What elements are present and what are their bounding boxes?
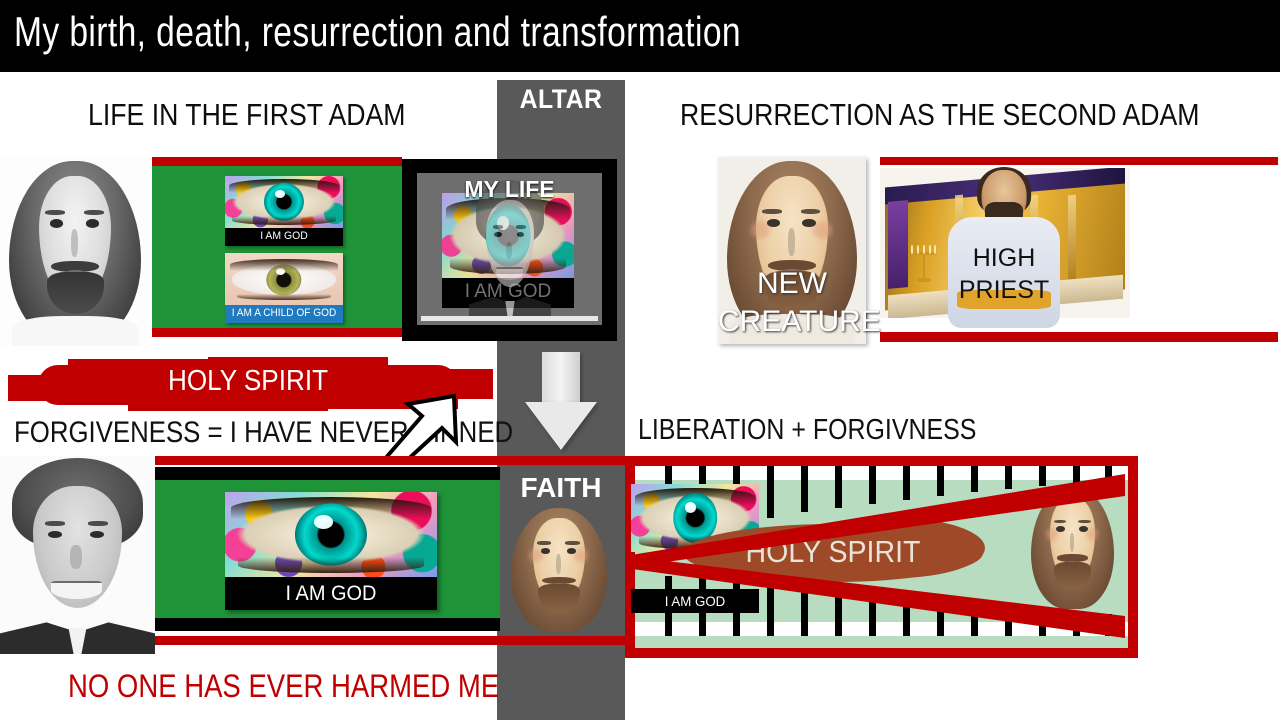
man-photo-grayscale bbox=[0, 456, 155, 654]
page-title: My birth, death, resurrection and transf… bbox=[14, 8, 741, 56]
eye-card-i-am-god: I AM GOD bbox=[225, 176, 343, 246]
high-priest-top-red-bar bbox=[880, 157, 1278, 165]
slide-canvas: My birth, death, resurrection and transf… bbox=[0, 0, 1280, 720]
my-life-panel: I AM GOD MY LIFE bbox=[402, 159, 617, 341]
right-column-header: RESURRECTION AS THE SECOND ADAM bbox=[680, 97, 1199, 133]
bottom-green-top-red-bar bbox=[155, 456, 500, 465]
eye-card-caption: I AM GOD bbox=[228, 230, 340, 242]
title-bar: My birth, death, resurrection and transf… bbox=[0, 0, 1280, 72]
jesus-watercolor-grayscale-top bbox=[0, 157, 150, 346]
green-panel-top-red-bar bbox=[152, 157, 402, 166]
eye-card-caption: I AM A CHILD OF GOD bbox=[230, 307, 339, 319]
faith-top-red-bar bbox=[497, 456, 625, 465]
bottom-eye-caption: I AM GOD bbox=[230, 582, 431, 606]
bent-arrow-up-right-icon bbox=[378, 368, 488, 463]
bottom-green-bottom-black-bar bbox=[155, 618, 500, 631]
red-bowtie-shape bbox=[625, 456, 1138, 658]
mint-panel: I AM GOD HOLY SPIRIT bbox=[625, 456, 1138, 658]
liberation-text: LIBERATION + FORGIVNESS bbox=[638, 414, 976, 447]
faith-label: FAITH bbox=[497, 472, 625, 504]
down-arrow-icon bbox=[497, 352, 625, 452]
new-creature-label-line2: CREATURE bbox=[718, 305, 866, 339]
bottom-eye-card: I AM GOD bbox=[225, 492, 437, 610]
eye-card-child-of-god: I AM A CHILD OF GOD bbox=[225, 253, 343, 323]
faith-bottom-red-bar bbox=[497, 636, 625, 645]
green-panel-bottom-red-bar bbox=[152, 328, 402, 337]
bottom-green-bottom-red-bar bbox=[155, 636, 500, 645]
left-column-header: LIFE IN THE FIRST ADAM bbox=[88, 97, 406, 133]
my-life-title: MY LIFE bbox=[417, 176, 602, 203]
new-creature-label-line1: NEW bbox=[718, 267, 866, 301]
faith-jesus-image bbox=[505, 505, 613, 635]
high-priest-label-line1: HIGH bbox=[948, 244, 1060, 273]
new-creature-card: NEW CREATURE bbox=[718, 157, 866, 344]
high-priest-label-line2: PRIEST bbox=[948, 276, 1060, 305]
bottom-green-top-black-bar bbox=[155, 467, 500, 480]
high-priest-bottom-red-bar bbox=[880, 332, 1278, 342]
altar-label: ALTAR bbox=[502, 84, 620, 115]
footer-text: NO ONE HAS EVER HARMED ME bbox=[68, 668, 499, 705]
high-priest-card: HIGH PRIEST bbox=[880, 168, 1130, 330]
